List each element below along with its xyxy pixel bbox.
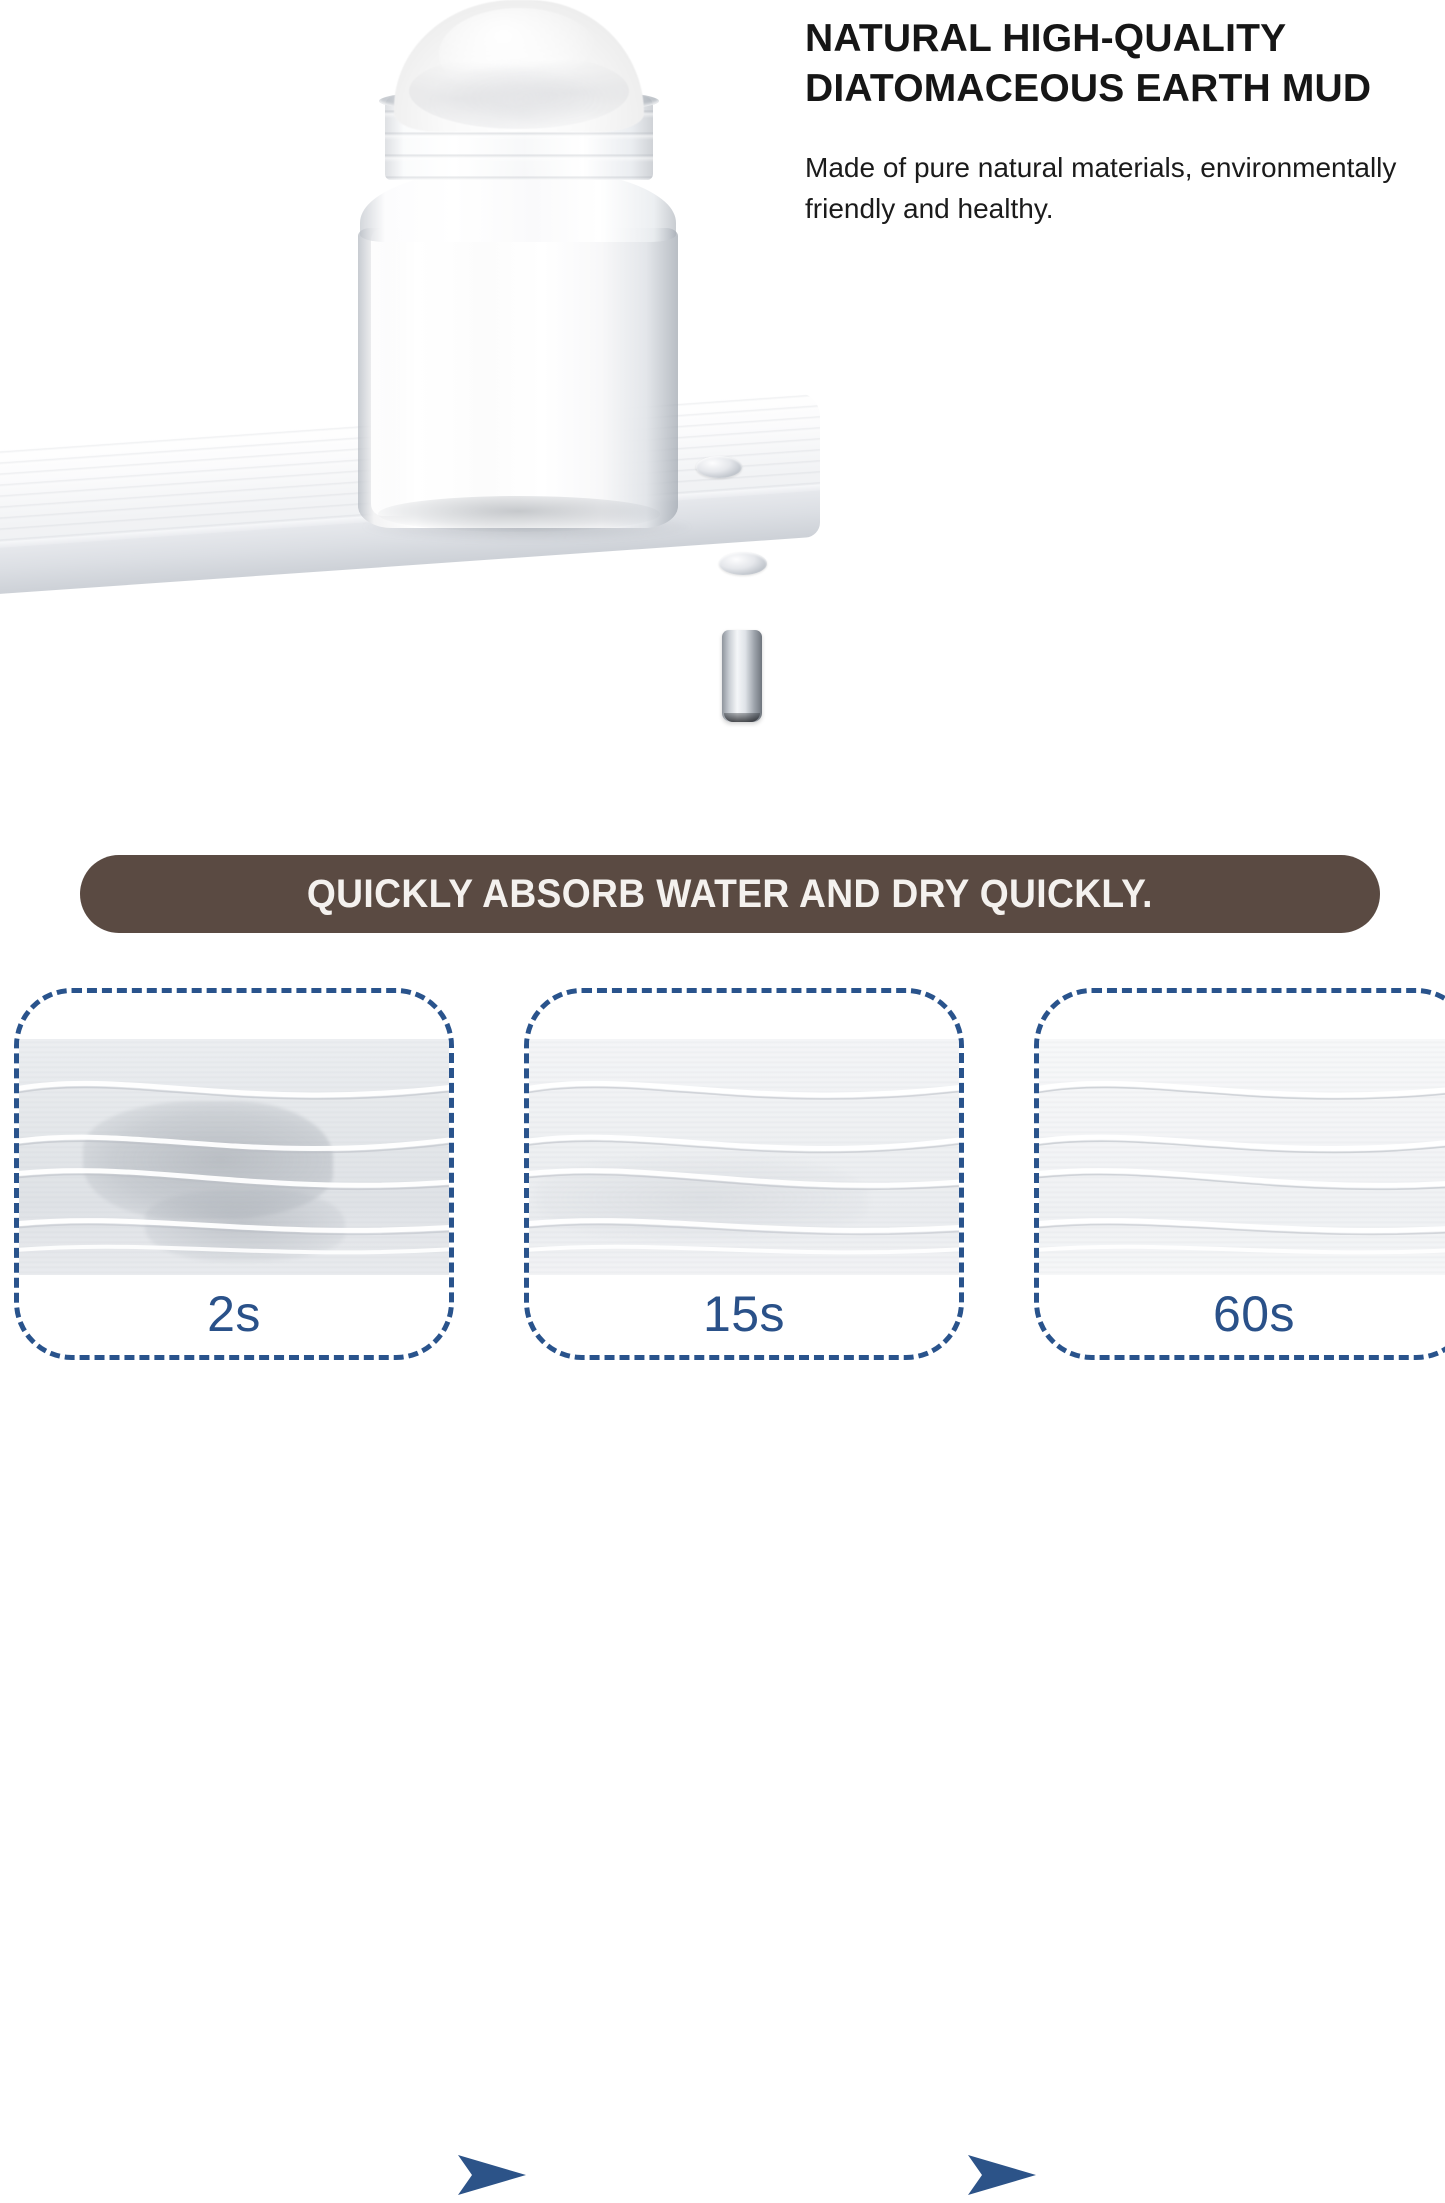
timeline-step-3-time-label: 60s xyxy=(1039,1285,1445,1343)
shelf-chrome-leg xyxy=(722,630,762,722)
board-wave-grooves xyxy=(14,1039,454,1275)
timeline-step-1: 2s xyxy=(14,988,454,1360)
absorption-timeline-section: 2s 15s xyxy=(0,988,1445,1368)
timeline-step-2: 15s xyxy=(524,988,964,1360)
hero-copy-block: NATURAL HIGH-QUALITY DIATOMACEOUS EARTH … xyxy=(805,14,1435,230)
hero-subcopy: Made of pure natural materials, environm… xyxy=(805,148,1435,230)
feature-banner-text: QUICKLY ABSORB WATER AND DRY QUICKLY. xyxy=(307,872,1153,917)
jar-bottom-contact-shadow xyxy=(378,496,660,532)
diatomaceous-earth-powder-heap xyxy=(394,0,644,132)
hero-section: NATURAL HIGH-QUALITY DIATOMACEOUS EARTH … xyxy=(0,0,1445,830)
timeline-step-3: 60s xyxy=(1034,988,1445,1360)
board-surface-sample-3 xyxy=(1034,1039,1445,1275)
hero-headline: NATURAL HIGH-QUALITY DIATOMACEOUS EARTH … xyxy=(805,14,1435,114)
timeline-step-1-time-label: 2s xyxy=(19,1285,449,1343)
board-wave-grooves xyxy=(1034,1039,1445,1275)
timeline-step-2-time-label: 15s xyxy=(529,1285,959,1343)
board-wave-grooves xyxy=(524,1039,964,1275)
arrow-right-icon xyxy=(968,2147,1040,2203)
jar-glass-body xyxy=(358,228,678,528)
board-surface-sample-1 xyxy=(14,1039,454,1275)
feature-banner: QUICKLY ABSORB WATER AND DRY QUICKLY. xyxy=(80,855,1380,933)
powder-jar-illustration xyxy=(352,0,682,545)
shelf-metal-inset-rear-icon xyxy=(696,456,742,478)
board-surface-sample-2 xyxy=(524,1039,964,1275)
shelf-metal-inset-front-icon xyxy=(719,552,767,575)
arrow-right-icon xyxy=(458,2147,530,2203)
